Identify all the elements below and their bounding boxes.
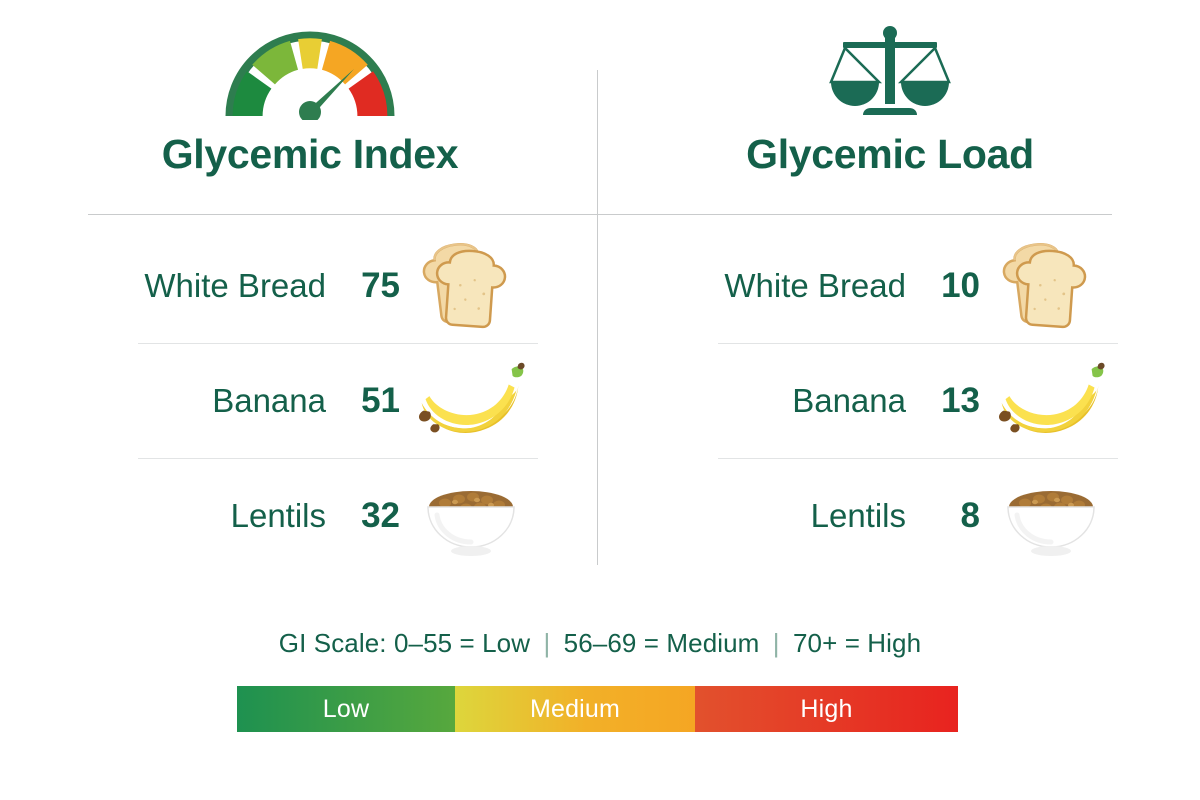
table-row: Banana 51 xyxy=(30,343,590,458)
bread-icon xyxy=(980,238,1110,334)
table-row: Lentils 8 xyxy=(610,458,1170,573)
page-title-glycemic-index: Glycemic Index xyxy=(30,134,590,175)
legend-separator-2: | xyxy=(767,628,786,658)
food-value: 8 xyxy=(910,498,980,533)
scale-band-medium: Medium xyxy=(455,686,695,732)
table-row: White Bread 75 xyxy=(30,228,590,343)
column-glycemic-load: Glycemic Load White Bread 10 xyxy=(610,0,1170,580)
food-value: 32 xyxy=(330,498,400,533)
food-label: White Bread xyxy=(610,269,910,302)
column-glycemic-index: Glycemic Index White Bread 75 xyxy=(30,0,590,580)
column-header-glycemic-index: Glycemic Index xyxy=(30,28,590,175)
lentils-bowl-icon xyxy=(400,469,530,563)
food-value: 51 xyxy=(330,383,400,418)
table-row: White Bread 10 xyxy=(610,228,1170,343)
table-row: Banana 13 xyxy=(610,343,1170,458)
banana-icon xyxy=(980,355,1110,447)
food-value: 75 xyxy=(330,268,400,303)
food-list-glycemic-load: White Bread 10 xyxy=(610,228,1170,573)
gi-scale-note: GI Scale: 0–55 = Low | 56–69 = Medium | … xyxy=(0,628,1200,659)
scale-band-high: High xyxy=(695,686,958,732)
page-title-glycemic-load: Glycemic Load xyxy=(610,134,1170,175)
food-list-glycemic-index: White Bread 75 xyxy=(30,228,590,573)
food-label: Lentils xyxy=(30,499,330,532)
food-label: White Bread xyxy=(30,269,330,302)
column-header-glycemic-load: Glycemic Load xyxy=(610,28,1170,175)
bread-icon xyxy=(400,238,530,334)
vertical-divider xyxy=(597,70,598,565)
food-label: Banana xyxy=(610,384,910,417)
gauge-icon xyxy=(30,28,590,120)
food-label: Banana xyxy=(30,384,330,417)
infographic-root: Glycemic Index White Bread 75 xyxy=(0,0,1200,800)
legend-separator-1: | xyxy=(537,628,556,658)
gi-scale-low-text: GI Scale: 0–55 = Low xyxy=(279,628,530,658)
food-value: 13 xyxy=(910,383,980,418)
balance-scale-icon xyxy=(610,28,1170,120)
gi-color-scale-bar: Low Medium High xyxy=(237,686,958,732)
gi-scale-medium-text: 56–69 = Medium xyxy=(564,628,760,658)
table-row: Lentils 32 xyxy=(30,458,590,573)
food-label: Lentils xyxy=(610,499,910,532)
lentils-bowl-icon xyxy=(980,469,1110,563)
scale-band-low: Low xyxy=(237,686,455,732)
gi-scale-high-text: 70+ = High xyxy=(793,628,921,658)
food-value: 10 xyxy=(910,268,980,303)
banana-icon xyxy=(400,355,530,447)
